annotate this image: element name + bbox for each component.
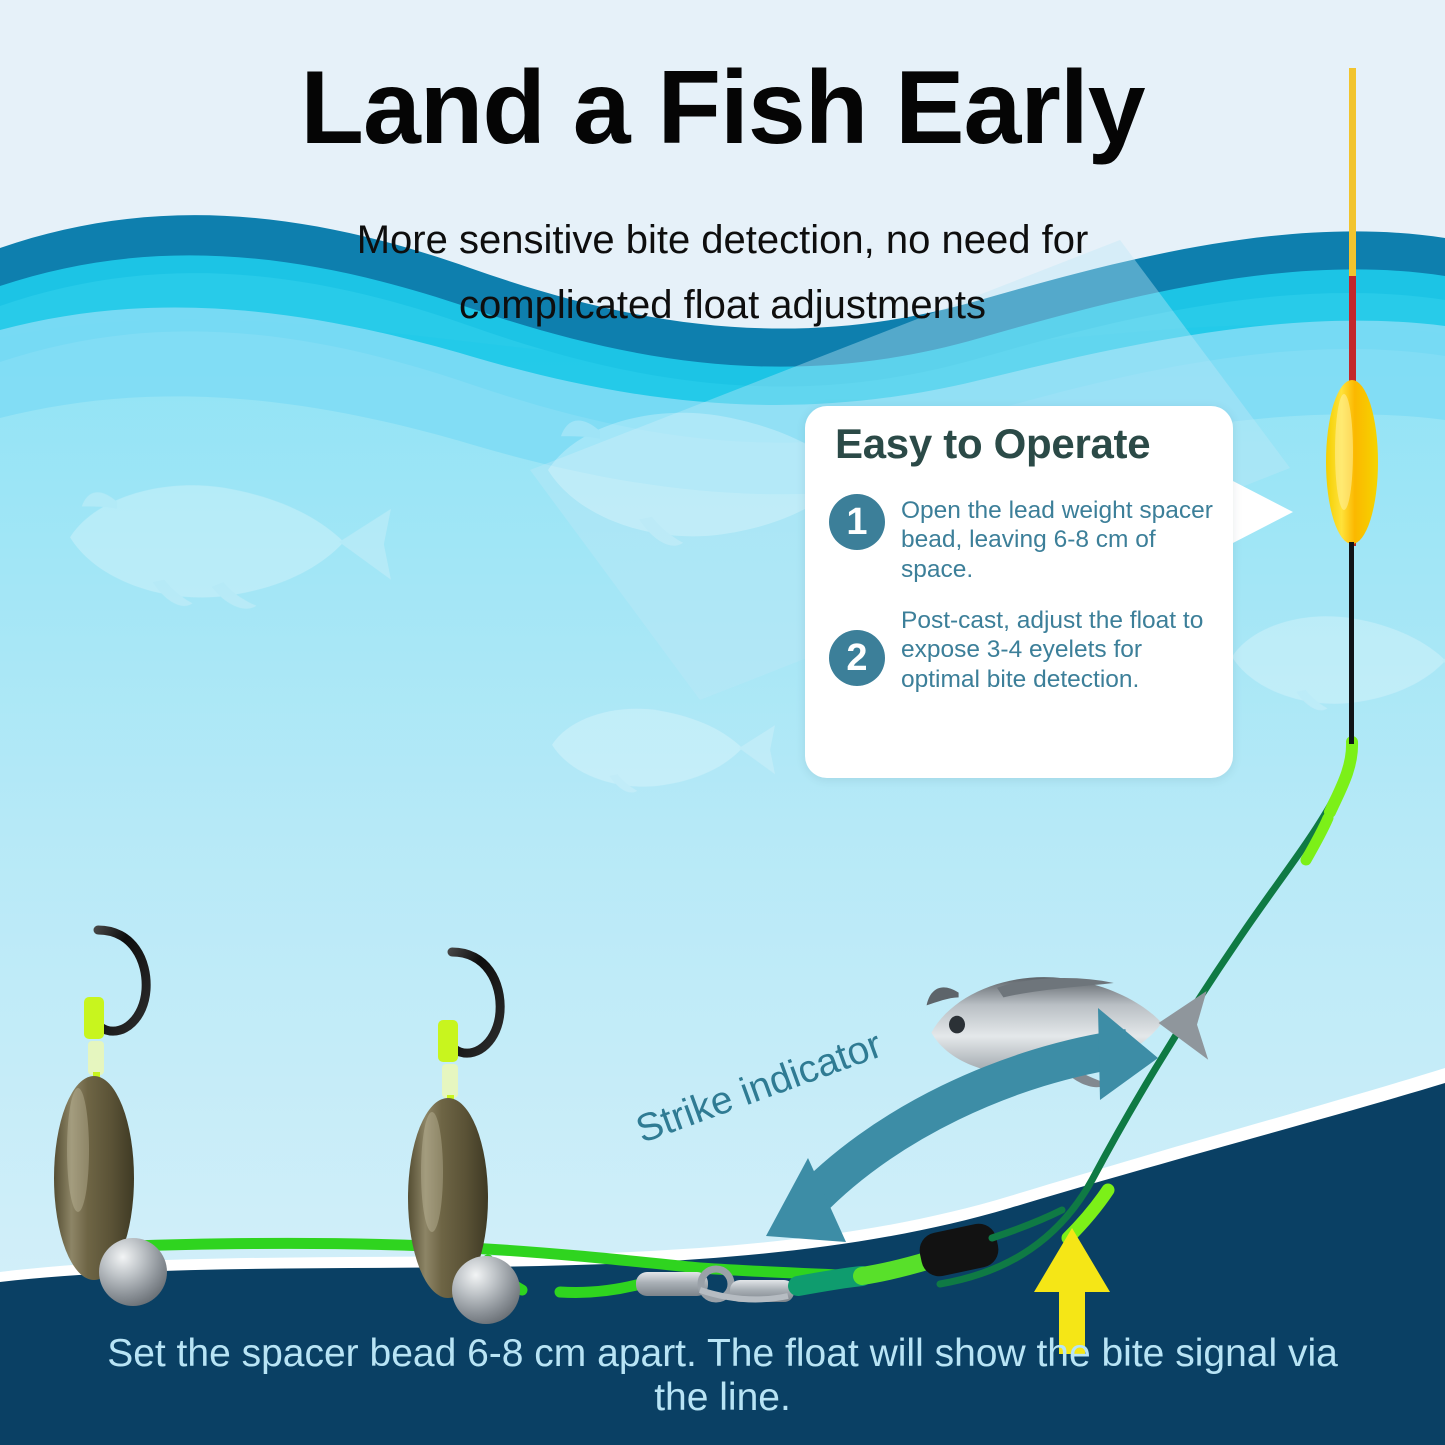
bead-1 — [99, 1238, 167, 1306]
hook-sleeve-1 — [84, 997, 104, 1039]
hook-clip-2 — [442, 1064, 458, 1098]
bead-2 — [452, 1256, 520, 1324]
step-item-1: 1 Open the lead weight spacer bead, leav… — [829, 494, 1221, 584]
step-number-badge-2: 2 — [829, 630, 885, 686]
fish-eye — [949, 1016, 965, 1034]
swivel-barrel-1 — [636, 1272, 708, 1296]
step-item-2: 2 Post-cast, adjust the float to expose … — [829, 604, 1221, 694]
page-title: Land a Fish Early — [0, 54, 1445, 163]
callout-title: Easy to Operate — [835, 420, 1150, 468]
step-number-badge-1: 1 — [829, 494, 885, 550]
lead-highlight-1 — [67, 1088, 89, 1212]
page-subtitle: More sensitive bite detection, no need f… — [273, 208, 1173, 338]
step-text-2: Post-cast, adjust the float to expose 3-… — [901, 604, 1221, 694]
hook-sleeve-2 — [438, 1020, 458, 1062]
float-body-highlight — [1335, 394, 1353, 510]
lead-highlight-2 — [421, 1112, 443, 1232]
callout-tail — [1231, 480, 1293, 544]
bottom-caption: Set the spacer bead 6-8 cm apart. The fl… — [0, 1332, 1445, 1419]
hook-clip-1 — [88, 1041, 104, 1075]
connector-teal — [798, 1276, 862, 1286]
step-text-1: Open the lead weight spacer bead, leavin… — [901, 494, 1221, 584]
infographic-canvas: Land a Fish Early More sensitive bite de… — [0, 0, 1445, 1445]
float-tip-red — [1349, 276, 1356, 396]
float-stem-black — [1349, 542, 1354, 744]
easy-to-operate-card: Easy to Operate 1 Open the lead weight s… — [805, 406, 1233, 778]
